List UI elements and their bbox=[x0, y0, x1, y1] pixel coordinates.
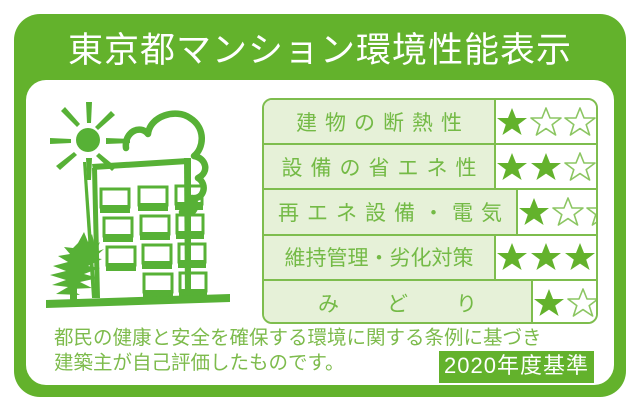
star-empty-icon bbox=[564, 151, 596, 183]
star-empty-icon bbox=[586, 196, 598, 228]
star-filled-icon bbox=[530, 151, 562, 183]
table-row: 建物の断熱性 bbox=[264, 100, 596, 145]
star-empty-icon bbox=[567, 287, 598, 319]
table-row: 設備の省エネ性 bbox=[264, 145, 596, 190]
disclaimer-line-2: 建築主が自己評価したものです。 bbox=[54, 352, 345, 374]
inner-white-panel: 建物の断熱性 設備の省エネ性 再エネ設備・電気 維持管理・劣化対策 みどり 都民… bbox=[26, 80, 614, 385]
star-empty-icon bbox=[530, 106, 562, 138]
star-filled-icon bbox=[564, 241, 596, 273]
star-empty-icon bbox=[552, 196, 584, 228]
environmental-performance-label-card: 東京都マンション環境性能表示 bbox=[14, 14, 626, 397]
rating-stars bbox=[533, 281, 598, 324]
star-filled-icon bbox=[518, 196, 550, 228]
table-row: 再エネ設備・電気 bbox=[264, 190, 596, 235]
star-filled-icon bbox=[496, 106, 528, 138]
rating-label: 建物の断熱性 bbox=[264, 100, 496, 143]
rating-label: 設備の省エネ性 bbox=[264, 145, 496, 188]
star-filled-icon bbox=[496, 151, 528, 183]
apartment-building-icon bbox=[83, 158, 207, 300]
star-filled-icon bbox=[530, 241, 562, 273]
table-row: みどり bbox=[264, 281, 596, 324]
rating-stars bbox=[496, 100, 596, 143]
header-band: 東京都マンション環境性能表示 bbox=[14, 14, 626, 86]
footer-area: 都民の健康と安全を確保する環境に関する条例に基づき 建築主が自己評価したものです… bbox=[26, 326, 614, 385]
star-filled-icon bbox=[533, 287, 565, 319]
star-empty-icon bbox=[564, 106, 596, 138]
page-title: 東京都マンション環境性能表示 bbox=[68, 33, 572, 68]
eco-mansion-illustration bbox=[40, 92, 248, 314]
star-filled-icon bbox=[496, 241, 528, 273]
disclaimer-line-1: 都民の健康と安全を確保する環境に関する条例に基づき bbox=[54, 327, 542, 349]
table-row: 維持管理・劣化対策 bbox=[264, 236, 596, 281]
rating-stars bbox=[496, 236, 596, 279]
rating-label: 再エネ設備・電気 bbox=[264, 190, 518, 233]
rating-stars bbox=[518, 190, 598, 233]
ratings-table: 建物の断熱性 設備の省エネ性 再エネ設備・電気 維持管理・劣化対策 みどり bbox=[262, 98, 598, 324]
standard-year-badge: 2020年度基準 bbox=[439, 351, 594, 383]
rating-label: 維持管理・劣化対策 bbox=[264, 236, 496, 279]
rating-stars bbox=[496, 145, 596, 188]
rating-label: みどり bbox=[264, 281, 533, 324]
